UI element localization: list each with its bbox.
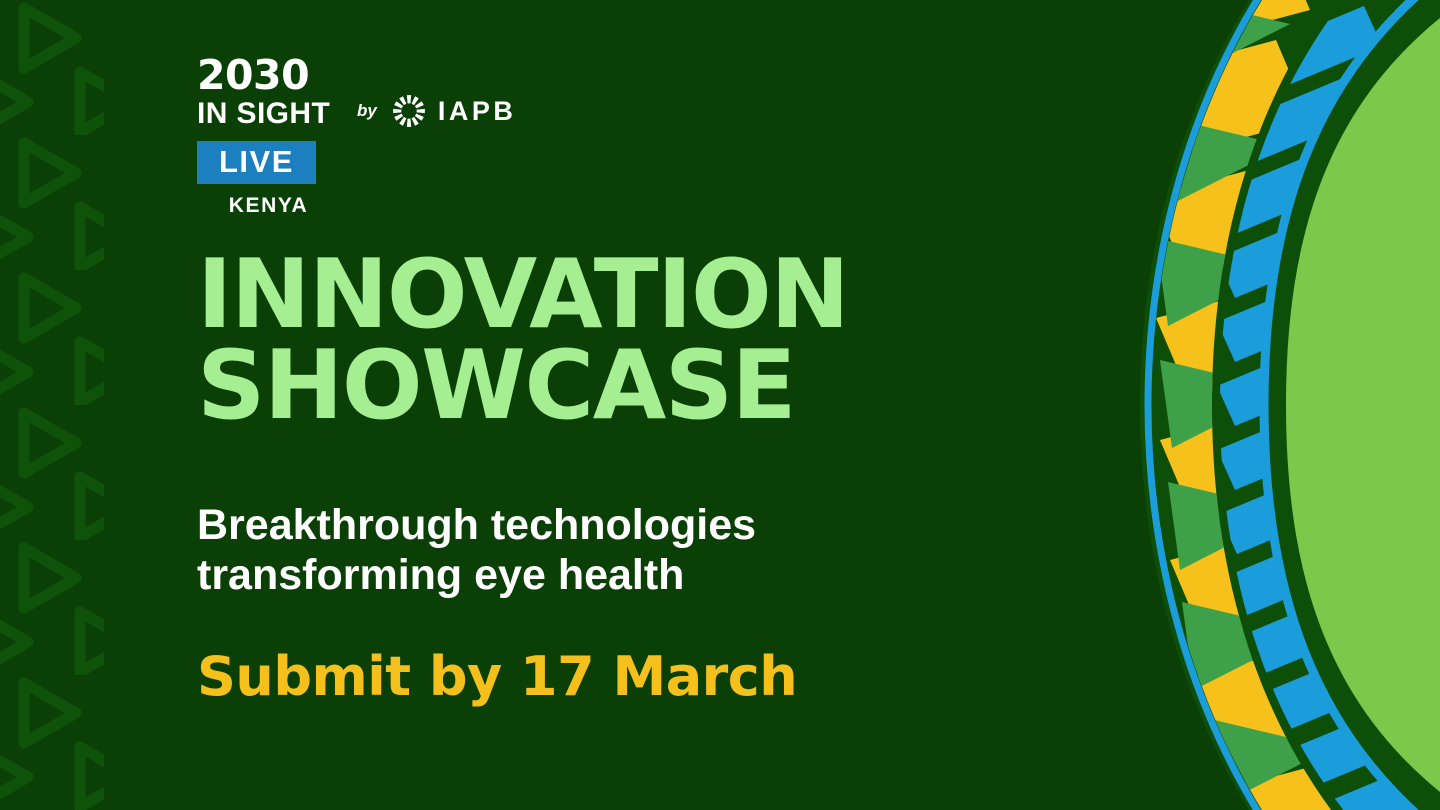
headline-line-1: INNOVATION	[197, 250, 848, 341]
logo-tagline: IN SIGHT	[197, 97, 379, 131]
subtitle: Breakthrough technologies transforming e…	[197, 500, 917, 601]
live-badge: LIVE	[197, 141, 316, 184]
page-title: INNOVATION SHOWCASE	[197, 250, 848, 432]
2030-in-sight-logo: 2030 IN SIGHT	[197, 55, 379, 131]
subtitle-line-2: transforming eye health	[197, 550, 917, 600]
brand-top-row: 2030 IN SIGHT by	[197, 55, 617, 131]
iapb-wordmark: IAPB	[438, 96, 517, 127]
country-label: KENYA	[197, 194, 340, 218]
by-label: by	[357, 101, 377, 121]
brand-lockup: 2030 IN SIGHT by	[197, 55, 617, 218]
poster-canvas: 2030 IN SIGHT by	[0, 0, 1440, 810]
content-column: 2030 IN SIGHT by	[197, 0, 1057, 810]
deadline-text: Submit by 17 March	[197, 647, 797, 706]
headline-line-2: SHOWCASE	[197, 341, 848, 432]
logo-year: 2030	[197, 55, 379, 95]
triangle-border-pattern-icon	[0, 0, 104, 810]
iapb-sunburst-icon	[389, 91, 429, 131]
by-iapb-lockup: by	[357, 91, 516, 131]
subtitle-line-1: Breakthrough technologies	[197, 500, 917, 550]
